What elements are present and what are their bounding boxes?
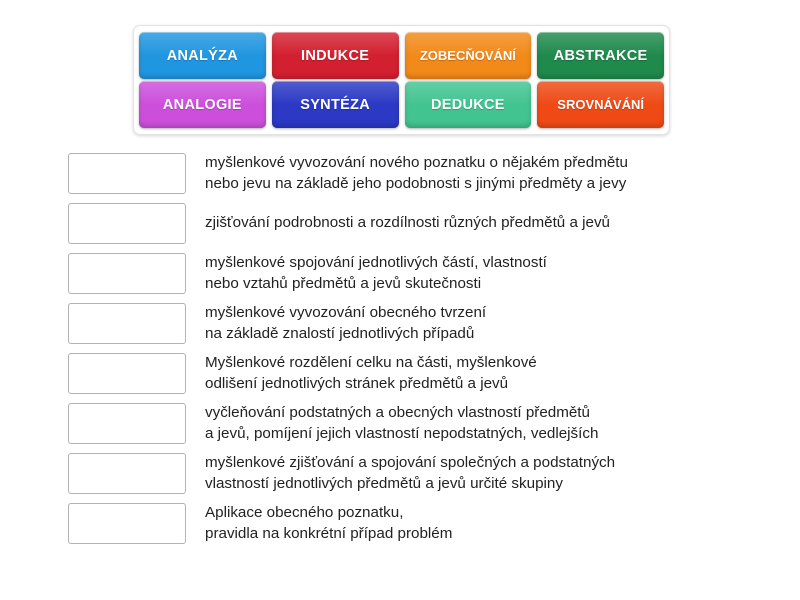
definition-line: zjišťování podrobnosti a rozdílnosti růz… — [205, 212, 610, 233]
definition-line: odlišení jednotlivých stránek předmětů a… — [205, 373, 537, 394]
tile-indukce[interactable]: INDUKCE — [272, 32, 399, 79]
tile-zobecnovani[interactable]: ZOBECŇOVÁNÍ — [405, 32, 532, 79]
definition-text: myšlenkové vyvozování obecného tvrzenína… — [205, 300, 486, 344]
tile-row-2: ANALOGIESYNTÉZADEDUKCESROVNÁVÁNÍ — [139, 81, 664, 128]
answer-rows-area: myšlenkové vyvozování nového poznatku o … — [0, 150, 800, 550]
tile-dedukce[interactable]: DEDUKCE — [405, 81, 532, 128]
definition-line: a jevů, pomíjení jejich vlastností nepod… — [205, 423, 598, 444]
answer-row: Aplikace obecného poznatku,pravidla na k… — [0, 500, 800, 544]
drop-box[interactable] — [68, 353, 186, 394]
definition-line: myšlenkové vyvozování nového poznatku o … — [205, 152, 628, 173]
answer-row: Myšlenkové rozdělení celku na části, myš… — [0, 350, 800, 394]
drop-box[interactable] — [68, 153, 186, 194]
tile-label: ANALÝZA — [165, 48, 240, 64]
tile-label: ABSTRAKCE — [552, 48, 650, 64]
answer-row: myšlenkové spojování jednotlivých částí,… — [0, 250, 800, 294]
definition-line: Myšlenkové rozdělení celku na části, myš… — [205, 352, 537, 373]
drop-box[interactable] — [68, 203, 186, 244]
answer-row: vyčleňování podstatných a obecných vlast… — [0, 400, 800, 444]
tile-label: SROVNÁVÁNÍ — [555, 97, 646, 112]
drop-box[interactable] — [68, 253, 186, 294]
tile-analyza[interactable]: ANALÝZA — [139, 32, 266, 79]
tile-label: DEDUKCE — [429, 97, 507, 113]
drop-box[interactable] — [68, 403, 186, 444]
definition-line: vyčleňování podstatných a obecných vlast… — [205, 402, 598, 423]
definition-text: Myšlenkové rozdělení celku na části, myš… — [205, 350, 537, 394]
tiles-panel: ANALÝZAINDUKCEZOBECŇOVÁNÍABSTRAKCEANALOG… — [133, 25, 670, 135]
tile-row-1: ANALÝZAINDUKCEZOBECŇOVÁNÍABSTRAKCE — [139, 32, 664, 79]
definition-line: nebo vztahů předmětů a jevů skutečnosti — [205, 273, 547, 294]
definition-line: vlastností jednotlivých předmětů a jevů … — [205, 473, 615, 494]
tile-srovnavani[interactable]: SROVNÁVÁNÍ — [537, 81, 664, 128]
definition-line: na základě znalostí jednotlivých případů — [205, 323, 486, 344]
tile-label: ANALOGIE — [161, 97, 244, 113]
definition-text: zjišťování podrobnosti a rozdílnosti růz… — [205, 200, 610, 233]
tile-label: ZOBECŇOVÁNÍ — [418, 48, 518, 63]
answer-row: myšlenkové vyvozování nového poznatku o … — [0, 150, 800, 194]
definition-text: myšlenkové vyvozování nového poznatku o … — [205, 150, 628, 194]
answer-row: myšlenkové vyvozování obecného tvrzenína… — [0, 300, 800, 344]
definition-line: myšlenkové vyvozování obecného tvrzení — [205, 302, 486, 323]
tile-label: INDUKCE — [299, 48, 371, 64]
definition-line: Aplikace obecného poznatku, — [205, 502, 452, 523]
answer-row: myšlenkové zjišťování a spojování společ… — [0, 450, 800, 494]
tile-abstrakce[interactable]: ABSTRAKCE — [537, 32, 664, 79]
tile-label: SYNTÉZA — [298, 97, 372, 113]
definition-text: Aplikace obecného poznatku,pravidla na k… — [205, 500, 452, 544]
definition-text: myšlenkové spojování jednotlivých částí,… — [205, 250, 547, 294]
drop-box[interactable] — [68, 453, 186, 494]
definition-text: myšlenkové zjišťování a spojování společ… — [205, 450, 615, 494]
definition-line: myšlenkové spojování jednotlivých částí,… — [205, 252, 547, 273]
tile-analogie[interactable]: ANALOGIE — [139, 81, 266, 128]
definition-text: vyčleňování podstatných a obecných vlast… — [205, 400, 598, 444]
definition-line: nebo jevu na základě jeho podobnosti s j… — [205, 173, 628, 194]
drop-box[interactable] — [68, 303, 186, 344]
definition-line: myšlenkové zjišťování a spojování společ… — [205, 452, 615, 473]
drop-box[interactable] — [68, 503, 186, 544]
tile-synteza[interactable]: SYNTÉZA — [272, 81, 399, 128]
definition-line: pravidla na konkrétní případ problém — [205, 523, 452, 544]
answer-row: zjišťování podrobnosti a rozdílnosti růz… — [0, 200, 800, 244]
